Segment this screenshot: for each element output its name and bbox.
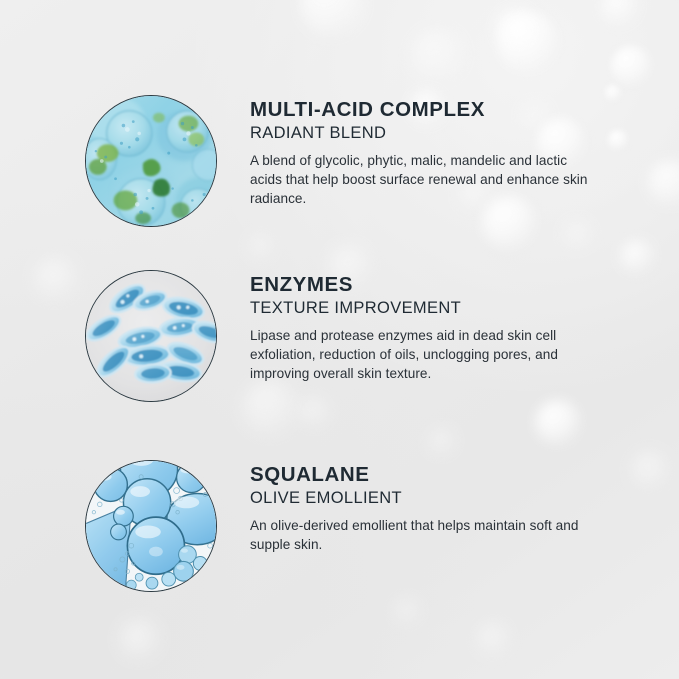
bokeh-bubble [601, 0, 639, 26]
ingredient-row: MULTI-ACID COMPLEX RADIANT BLEND A blend… [0, 95, 679, 227]
ingredient-title: ENZYMES [250, 274, 595, 297]
bokeh-bubble [430, 430, 454, 454]
ingredient-row: ENZYMES TEXTURE IMPROVEMENT Lipase and p… [0, 270, 679, 402]
ingredient-body: A blend of glycolic, phytic, malic, mand… [250, 151, 595, 209]
swatch-wrapper [85, 270, 217, 402]
ingredient-title: SQUALANE [250, 464, 595, 487]
ingredient-subtitle: RADIANT BLEND [250, 124, 595, 144]
microscopic-cells-swatch [85, 95, 217, 227]
bokeh-bubble [497, 12, 559, 74]
bokeh-bubble [535, 400, 581, 446]
ingredient-text: ENZYMES TEXTURE IMPROVEMENT Lipase and p… [250, 270, 595, 384]
enzyme-cells-swatch [85, 270, 217, 402]
swatch-wrapper [85, 95, 217, 227]
ingredient-row: SQUALANE OLIVE EMOLLIENT An olive-derive… [0, 460, 679, 592]
bokeh-bubble [495, 8, 539, 52]
ingredient-subtitle: OLIVE EMOLLIENT [250, 489, 595, 509]
ingredient-title: MULTI-ACID COMPLEX [250, 99, 595, 122]
ingredient-body: Lipase and protease enzymes aid in dead … [250, 326, 595, 384]
bokeh-bubble [412, 30, 464, 82]
bokeh-bubble [620, 240, 654, 274]
swatch-wrapper [85, 460, 217, 592]
ingredient-text: SQUALANE OLIVE EMOLLIENT An olive-derive… [250, 460, 595, 554]
bokeh-bubble [120, 620, 160, 660]
bokeh-bubble [300, 398, 328, 426]
bokeh-bubble [611, 46, 651, 86]
bokeh-bubble [478, 624, 508, 654]
bokeh-bubble [250, 236, 272, 258]
bokeh-bubble [300, 0, 366, 38]
bokeh-bubble [396, 600, 418, 622]
ingredient-text: MULTI-ACID COMPLEX RADIANT BLEND A blend… [250, 95, 595, 209]
oil-bubbles-swatch [85, 460, 217, 592]
ingredient-infographic: MULTI-ACID COMPLEX RADIANT BLEND A blend… [0, 0, 679, 679]
ingredient-body: An olive-derived emollient that helps ma… [250, 516, 595, 555]
ingredient-subtitle: TEXTURE IMPROVEMENT [250, 299, 595, 319]
